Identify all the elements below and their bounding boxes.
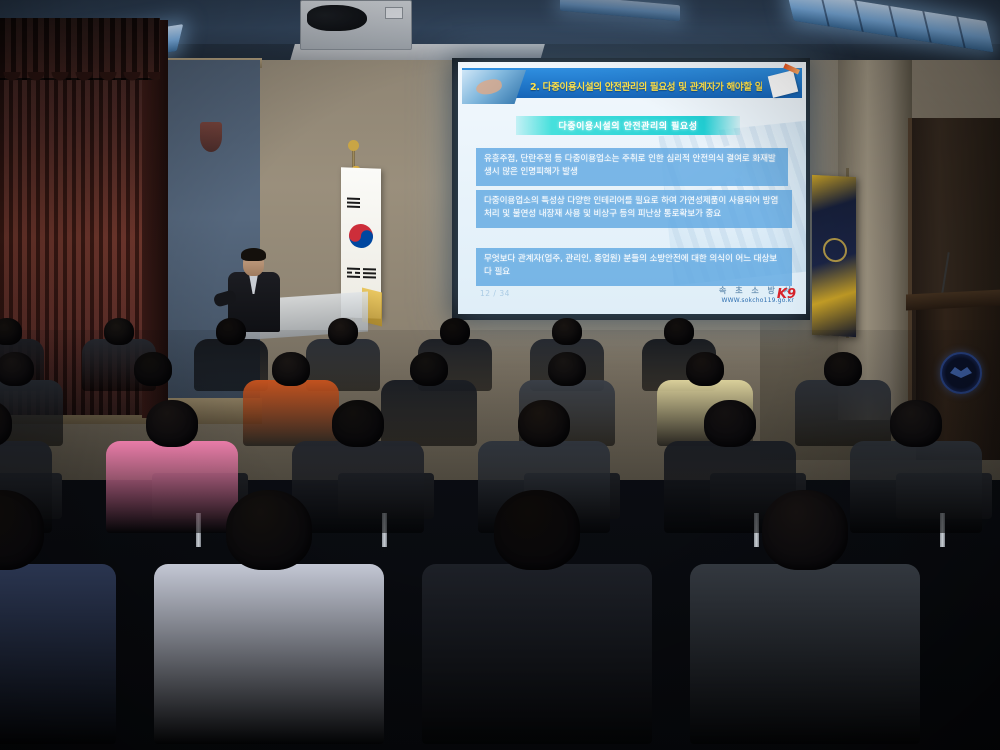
person-torso: [422, 564, 652, 744]
person-head: [664, 318, 694, 345]
person-torso: [243, 380, 339, 446]
person-head: [824, 352, 862, 386]
curtain-valance: [0, 18, 160, 80]
person-head: [226, 490, 312, 570]
slide-bullet: 다중이용업소의 특성상 다양한 인테리어를 필요로 하여 가연성제품이 사용되어…: [476, 190, 792, 228]
person-head: [104, 318, 134, 345]
person-head: [332, 400, 384, 447]
slide-bullet: 무엇보다 관계자(업주, 관리인, 종업원) 분들의 소방안전에 대한 의식이 …: [476, 248, 792, 286]
wall-plaque: [200, 122, 222, 152]
person-torso: [381, 380, 477, 446]
slide-title-bar: 2. 다중이용시설의 안전관리의 필요성 및 관계자가 해야할 일: [462, 68, 802, 98]
person-head: [0, 352, 34, 386]
person-head: [440, 318, 470, 345]
person-head: [272, 352, 310, 386]
person-head: [146, 400, 198, 447]
slide-page-number: 12 / 34: [480, 289, 510, 298]
photo-scene: 2. 다중이용시설의 안전관리의 필요성 및 관계자가 해야할 일 다중이용시설…: [0, 0, 1000, 750]
projector: [300, 0, 412, 50]
person-head: [410, 352, 448, 386]
person-head: [0, 318, 22, 345]
slide-title: 2. 다중이용시설의 안전관리의 필요성 및 관계자가 해야할 일: [530, 79, 762, 93]
person-torso: [106, 441, 238, 533]
taeguk-circle: [349, 224, 373, 249]
slide-title-photo: [462, 70, 526, 104]
slide-bullet: 유흥주점, 단란주점 등 다중이용업소는 주취로 인한 심리적 안전의식 결여로…: [476, 148, 788, 186]
person-head: [890, 400, 942, 447]
slide-section-heading-text: 다중이용시설의 안전관리의 필요성: [559, 119, 698, 132]
presenter-hair: [241, 248, 266, 261]
person-head: [134, 352, 172, 386]
person-head: [216, 318, 246, 345]
projection-screen: 2. 다중이용시설의 안전관리의 필요성 및 관계자가 해야할 일 다중이용시설…: [458, 62, 806, 314]
person-head: [518, 400, 570, 447]
k9-badge: K9: [777, 287, 796, 302]
person-head: [762, 490, 848, 570]
person-head: [686, 352, 724, 386]
person-torso: [154, 564, 384, 744]
person-head: [548, 352, 586, 386]
person-torso: [850, 441, 982, 533]
podium-emblem: [940, 352, 982, 394]
person-torso: [690, 564, 920, 744]
person-torso: [0, 564, 116, 744]
flagpole-finial: [348, 140, 359, 151]
pencil-icon: [768, 70, 799, 98]
person-head: [328, 318, 358, 345]
slide-section-heading: 다중이용시설의 안전관리의 필요성: [516, 116, 740, 135]
person-torso: [795, 380, 891, 446]
person-head: [552, 318, 582, 345]
organization-flag: [812, 175, 856, 337]
person-torso: [292, 441, 424, 533]
slide-footer-logo: 속 초 소 방 서 WWW.sokcho119.go.kr K9: [719, 285, 794, 304]
person-head: [494, 490, 580, 570]
person-head: [704, 400, 756, 447]
